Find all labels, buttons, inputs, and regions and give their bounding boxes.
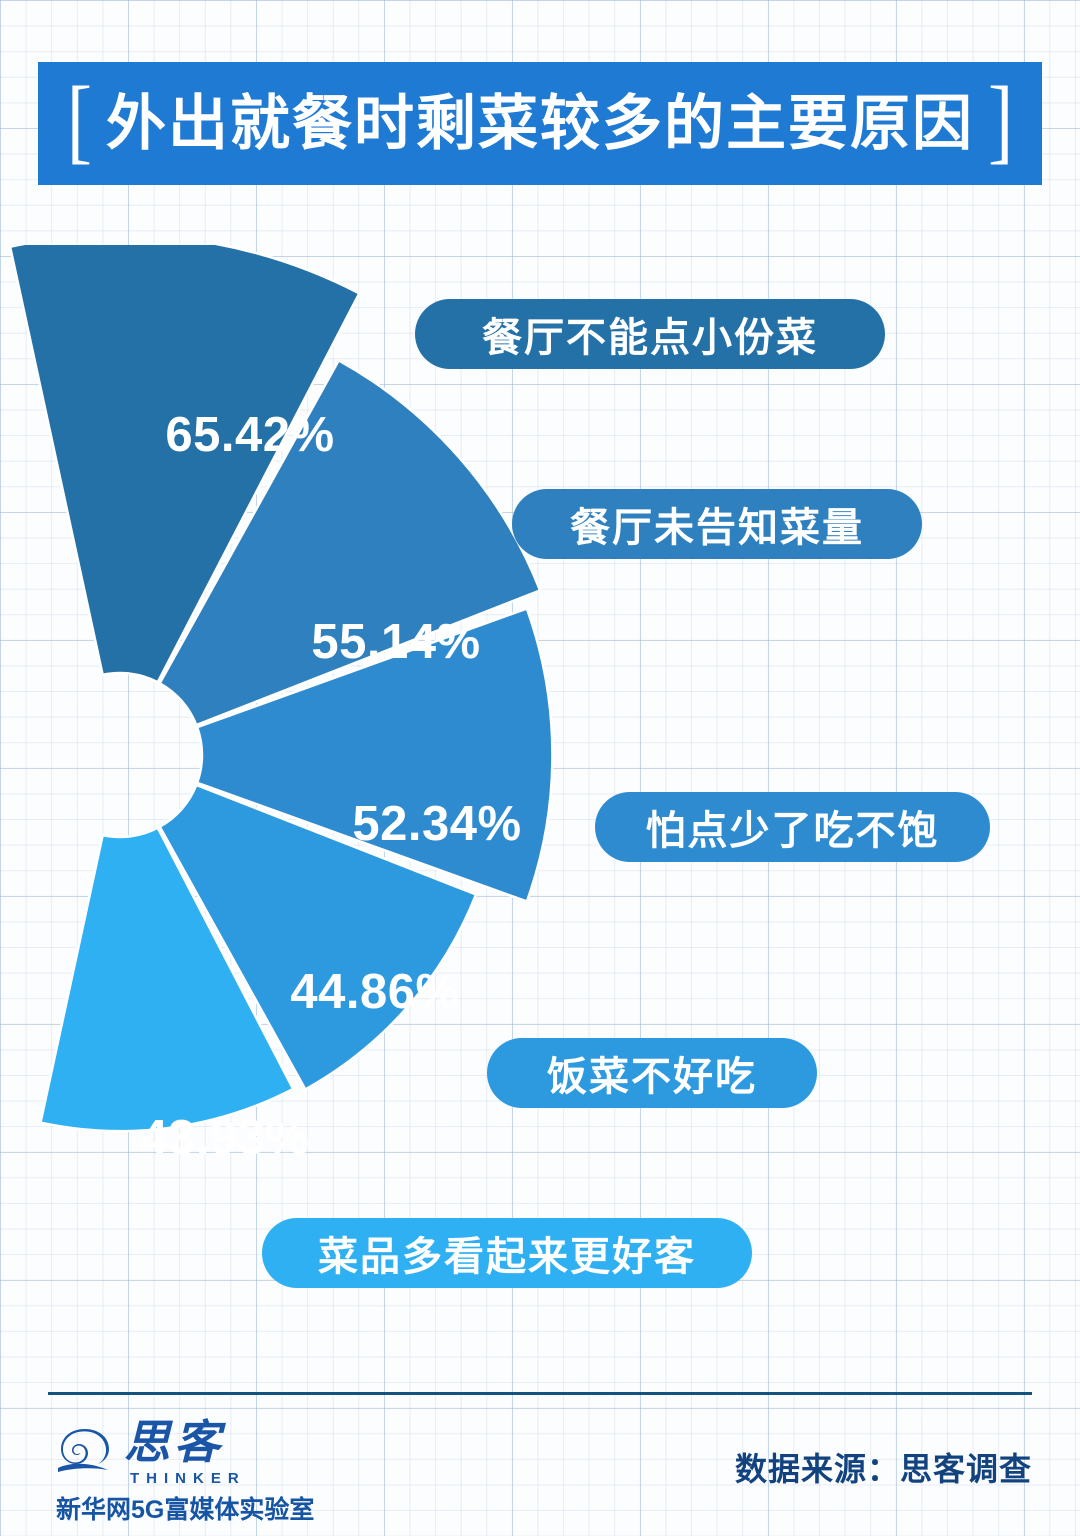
slice-value-label: 43.93%	[140, 1111, 309, 1165]
chart-slice-group	[10, 245, 552, 1131]
slice-value-label: 52.34%	[352, 797, 521, 851]
category-label-text: 饭菜不好吃	[547, 1044, 757, 1102]
category-label-pill: 餐厅不能点小份菜	[415, 299, 885, 369]
footer-divider	[48, 1392, 1032, 1395]
slice-value-label: 44.86%	[290, 965, 459, 1019]
rose-donut-chart: 65.42%55.14%52.34%44.86%43.93%	[0, 245, 700, 1295]
swirl-icon	[56, 1426, 114, 1476]
slice-value-label: 65.42%	[165, 408, 334, 462]
category-label-text: 餐厅未告知菜量	[570, 495, 864, 553]
category-label-text: 菜品多看起来更好客	[318, 1224, 696, 1282]
category-label-pill: 饭菜不好吃	[487, 1038, 817, 1108]
category-label-text: 怕点少了吃不饱	[646, 798, 940, 856]
category-label-pill: 怕点少了吃不饱	[595, 792, 990, 862]
logo-artwork: 思客 THINKER	[56, 1424, 306, 1496]
logo-wordmark-en: THINKER	[130, 1470, 246, 1487]
chart-svg: 65.42%55.14%52.34%44.86%43.93%	[0, 245, 700, 1295]
category-label-text: 餐厅不能点小份菜	[482, 305, 818, 363]
logo-wordmark-cn: 思客	[124, 1420, 224, 1466]
data-source-note: 数据来源：思客调查	[735, 1444, 1032, 1490]
page-title: 外出就餐时剩菜较多的主要原因	[106, 94, 974, 154]
brand-logo: 思客 THINKER 新华网5G富媒体实验室	[56, 1424, 336, 1523]
bracket-left-icon: [	[67, 72, 92, 167]
category-label-pill: 餐厅未告知菜量	[512, 489, 922, 559]
title-bar: [ 外出就餐时剩菜较多的主要原因 ]	[38, 62, 1042, 185]
logo-subtitle: 新华网5G富媒体实验室	[56, 1498, 336, 1523]
category-label-pill: 菜品多看起来更好客	[262, 1218, 752, 1288]
bracket-right-icon: ]	[988, 72, 1013, 167]
slice-value-label: 55.14%	[311, 615, 480, 669]
infographic-page: [ 外出就餐时剩菜较多的主要原因 ] 65.42%55.14%52.34%44.…	[0, 0, 1080, 1536]
